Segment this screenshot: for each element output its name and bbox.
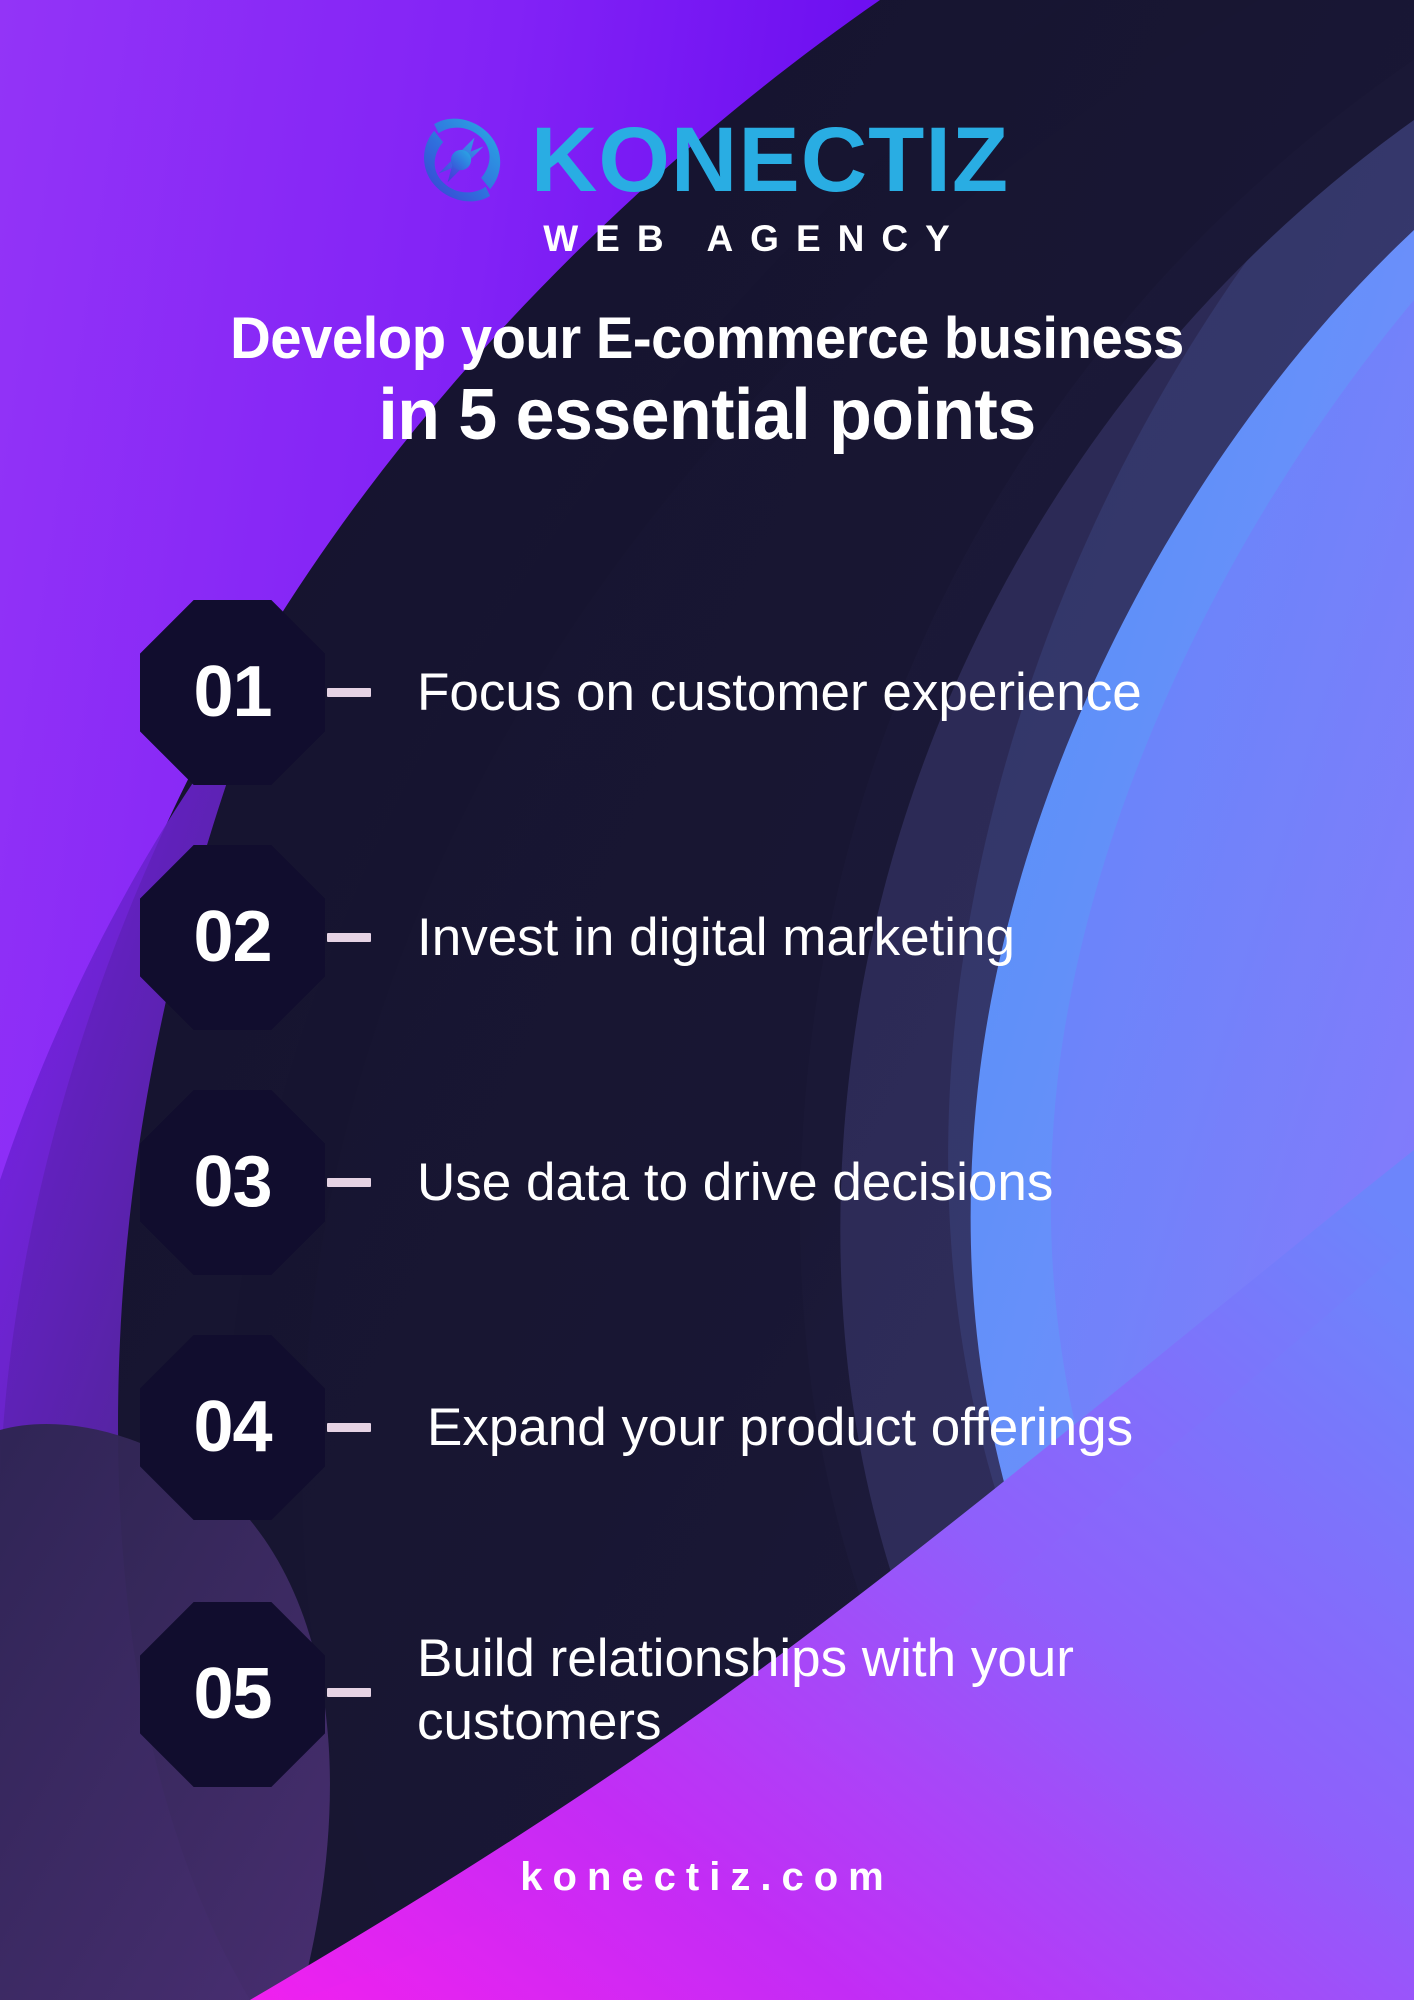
brand-tagline: WEB AGENCY [543,220,967,257]
point-label: Use data to drive decisions [417,1152,1053,1215]
list-item: 03 Use data to drive decisions [140,1090,1380,1335]
point-number: 02 [140,845,325,1030]
point-number: 05 [140,1602,325,1787]
list-item: 01 Focus on customer experience [140,600,1380,845]
brand-name: KONECTIZ [531,118,1009,203]
octagon-badge: 03 [140,1090,325,1275]
point-number: 03 [140,1090,325,1275]
point-label: Focus on customer experience [417,662,1142,725]
connector-dash [327,1423,371,1432]
brand-logo: KONECTIZ WEB AGENCY [0,104,1414,257]
connector-dash [327,933,371,942]
list-item: 04 Expand your product offerings [140,1335,1380,1580]
headline-line-2: in 5 essential points [21,375,1393,456]
footer: konectiz.com [0,1855,1414,1900]
octagon-badge: 04 [140,1335,325,1520]
infographic-poster: KONECTIZ WEB AGENCY Develop your E-comme… [0,0,1414,2000]
page-title: Develop your E-commerce business in 5 es… [0,308,1414,455]
atom-orbit-icon [405,104,517,216]
connector-dash [327,1688,371,1697]
point-number: 01 [140,600,325,785]
headline-line-1: Develop your E-commerce business [21,308,1393,371]
list-item: 05 Build relationships with your custome… [140,1580,1380,1787]
point-number: 04 [140,1335,325,1520]
point-label: Expand your product offerings [427,1397,1133,1460]
points-list: 01 Focus on customer experience 02 Inves… [140,600,1380,1787]
octagon-badge: 02 [140,845,325,1030]
octagon-badge: 01 [140,600,325,785]
octagon-badge: 05 [140,1602,325,1787]
connector-dash [327,688,371,697]
point-label: Build relationships with your customers [417,1628,1177,1753]
connector-dash [327,1178,371,1187]
list-item: 02 Invest in digital marketing [140,845,1380,1090]
point-label: Invest in digital marketing [417,907,1015,970]
website-url[interactable]: konectiz.com [0,1855,1414,1900]
